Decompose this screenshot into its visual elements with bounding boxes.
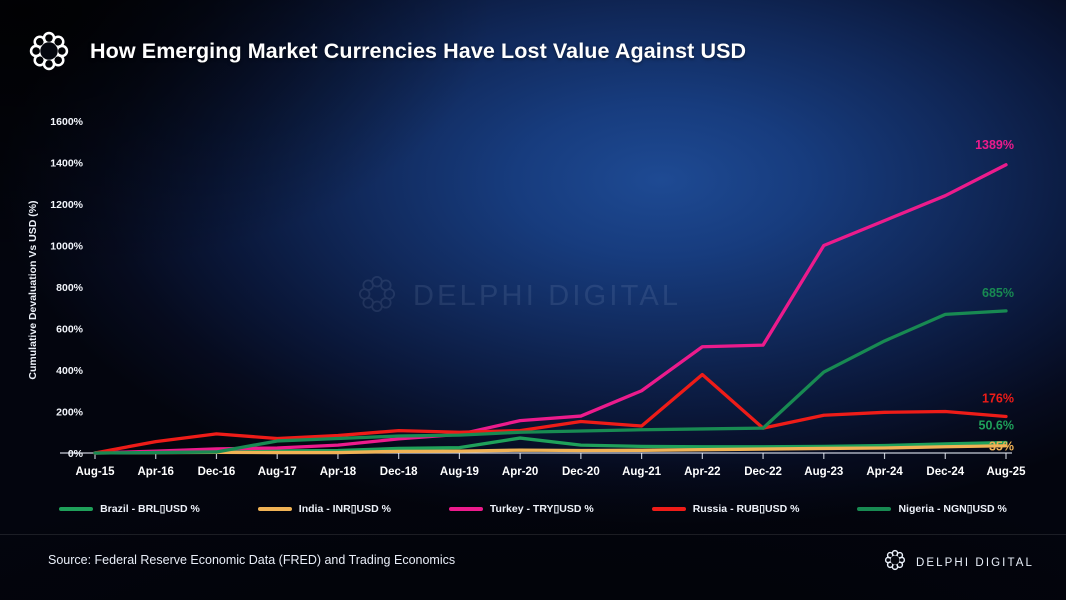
- delphi-knot-footer-icon: [883, 548, 907, 577]
- y-axis-tick-label: 400%: [56, 365, 84, 377]
- y-axis-tick-label: 0%: [68, 448, 84, 460]
- end-label-turkey: 1389%: [975, 138, 1014, 152]
- series-line-turkey: [95, 165, 1006, 453]
- x-axis-tick-label: Aug-15: [76, 466, 116, 478]
- series-lines: [95, 165, 1006, 453]
- legend-label: Russia - RUB▯USD %: [693, 503, 800, 515]
- footer-brand-text: DELPHI DIGITAL: [916, 557, 1034, 569]
- legend-swatch-icon: [449, 507, 483, 511]
- chart-legend: Brazil - BRL▯USD %India - INR▯USD %Turke…: [0, 503, 1066, 515]
- x-axis-tick-label: Apr-20: [502, 466, 538, 478]
- x-axis-tick-label: Dec-22: [744, 466, 782, 478]
- x-axis-tick-label: Aug-19: [440, 466, 479, 478]
- x-axis-tick-label: Dec-20: [562, 466, 600, 478]
- legend-item-brazil[interactable]: Brazil - BRL▯USD %: [59, 503, 200, 515]
- y-axis-tick-label: 200%: [56, 407, 84, 419]
- x-axis-tick-label: Aug-21: [622, 466, 662, 478]
- series-end-labels: 50.6%35%1389%176%685%: [975, 138, 1014, 454]
- x-axis-tick-label: Aug-23: [804, 466, 843, 478]
- x-axis-tick-label: Apr-22: [684, 466, 720, 478]
- legend-swatch-icon: [857, 507, 891, 511]
- legend-swatch-icon: [258, 507, 292, 511]
- x-axis-tick-label: Apr-24: [866, 466, 903, 478]
- legend-swatch-icon: [652, 507, 686, 511]
- y-axis-tick-label: 1200%: [50, 199, 83, 211]
- series-line-nigeria: [95, 311, 1006, 453]
- chart-canvas: How Emerging Market Currencies Have Lost…: [0, 0, 1066, 600]
- legend-item-turkey[interactable]: Turkey - TRY▯USD %: [449, 503, 594, 515]
- y-axis-title: Cumulative Devaluation Vs USD (%): [27, 200, 39, 379]
- legend-label: India - INR▯USD %: [299, 503, 391, 515]
- y-axis-tick-label: 1600%: [50, 116, 83, 128]
- x-axis-tick-label: Apr-16: [138, 466, 174, 478]
- x-axis-tick-label: Dec-24: [926, 466, 964, 478]
- y-axis-tick-label: 600%: [56, 324, 84, 336]
- legend-label: Brazil - BRL▯USD %: [100, 503, 200, 515]
- legend-item-russia[interactable]: Russia - RUB▯USD %: [652, 503, 800, 515]
- chart-header: How Emerging Market Currencies Have Lost…: [26, 28, 746, 74]
- x-axis-tick-label: Aug-17: [258, 466, 297, 478]
- end-label-brazil: 50.6%: [979, 419, 1014, 433]
- source-note: Source: Federal Reserve Economic Data (F…: [48, 553, 455, 567]
- y-axis: 0%200%400%600%800%1000%1200%1400%1600%: [50, 116, 83, 460]
- y-axis-tick-label: 1400%: [50, 158, 83, 170]
- legend-item-nigeria[interactable]: Nigeria - NGN▯USD %: [857, 503, 1006, 515]
- end-label-russia: 176%: [982, 391, 1014, 405]
- legend-label: Nigeria - NGN▯USD %: [898, 503, 1006, 515]
- footer-divider: [0, 534, 1066, 535]
- end-label-india: 35%: [989, 440, 1014, 454]
- y-axis-tick-label: 800%: [56, 282, 84, 294]
- end-label-nigeria: 685%: [982, 286, 1014, 300]
- x-axis: Aug-15Apr-16Dec-16Aug-17Apr-18Dec-18Aug-…: [76, 453, 1027, 478]
- footer-brand: DELPHI DIGITAL: [883, 548, 1034, 577]
- legend-swatch-icon: [59, 507, 93, 511]
- delphi-knot-logo-icon: [26, 28, 72, 74]
- y-axis-tick-label: 1000%: [50, 241, 83, 253]
- x-axis-tick-label: Dec-18: [380, 466, 418, 478]
- legend-item-india[interactable]: India - INR▯USD %: [258, 503, 391, 515]
- x-axis-tick-label: Apr-18: [320, 466, 357, 478]
- legend-label: Turkey - TRY▯USD %: [490, 503, 594, 515]
- x-axis-tick-label: Aug-25: [987, 466, 1027, 478]
- page-title: How Emerging Market Currencies Have Lost…: [90, 39, 746, 64]
- x-axis-tick-label: Dec-16: [198, 466, 236, 478]
